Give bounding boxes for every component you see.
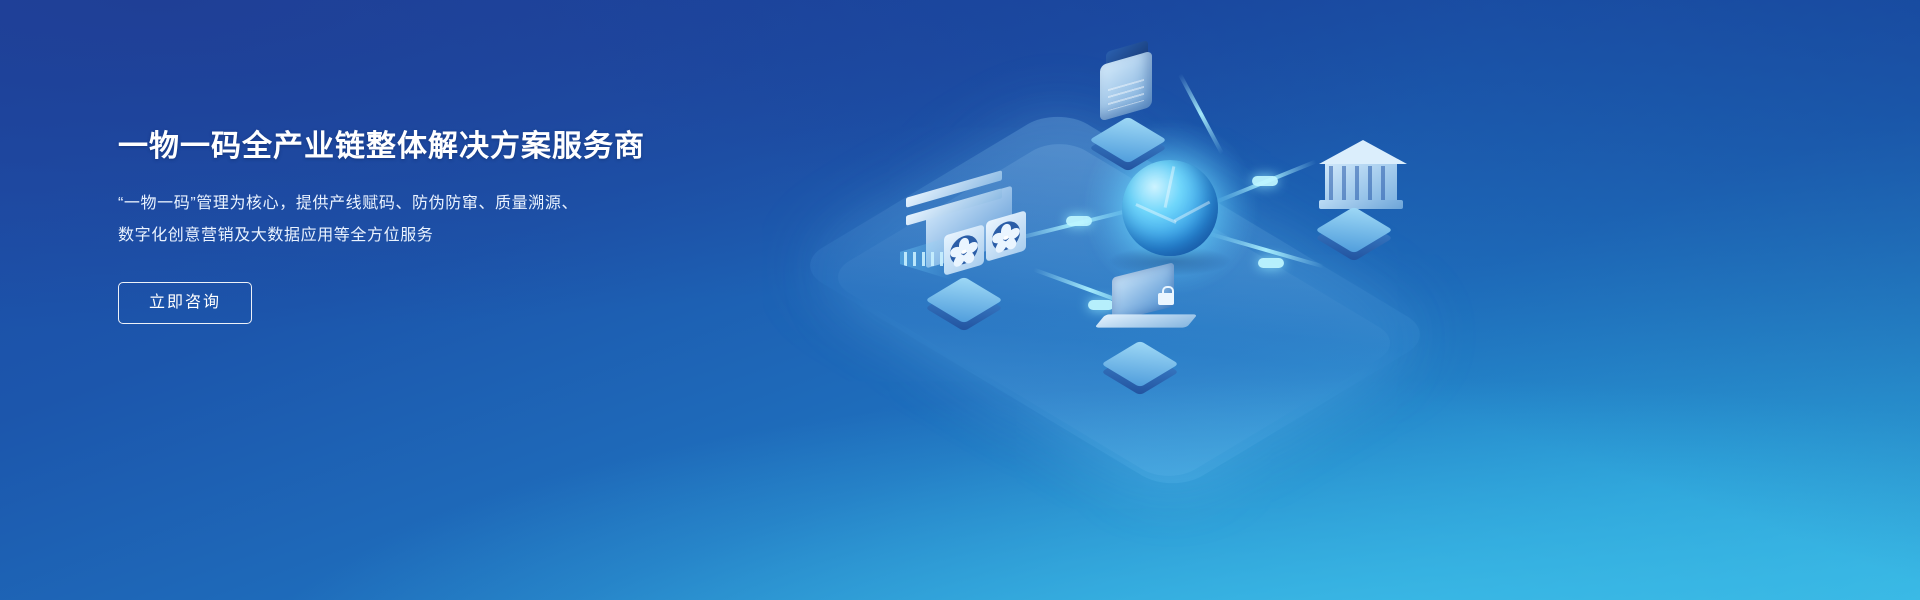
subtitle-line-2: 数字化创意营销及大数据应用等全方位服务 [118, 220, 738, 252]
pos-terminal-icon [1090, 38, 1168, 130]
hero-illustration [860, 0, 1520, 600]
hero-copy: 一物一码全产业链整体解决方案服务商 “一物一码”管理为核心，提供产线赋码、防伪防… [118, 128, 738, 324]
laptop-lock-icon [1098, 270, 1208, 348]
consult-now-button[interactable]: 立即咨询 [118, 282, 252, 324]
lock-icon [1158, 286, 1174, 306]
pedestal-base [1332, 208, 1392, 238]
subtitle-line-1: “一物一码”管理为核心，提供产线赋码、防伪防窜、质量溯源、 [118, 188, 738, 220]
hero-banner: 一物一码全产业链整体解决方案服务商 “一物一码”管理为核心，提供产线赋码、防伪防… [0, 0, 1920, 600]
hero-subtitle: “一物一码”管理为核心，提供产线赋码、防伪防窜、质量溯源、 数字化创意营销及大数… [118, 188, 738, 252]
pedestal-base [942, 278, 1002, 308]
page-title: 一物一码全产业链整体解决方案服务商 [118, 128, 738, 166]
pedestal-base [1118, 342, 1178, 372]
pedestal-base [1106, 118, 1166, 148]
network-hub-sphere-icon [1122, 160, 1218, 256]
data-pulse [1258, 258, 1284, 268]
hub-ball [1122, 160, 1218, 256]
